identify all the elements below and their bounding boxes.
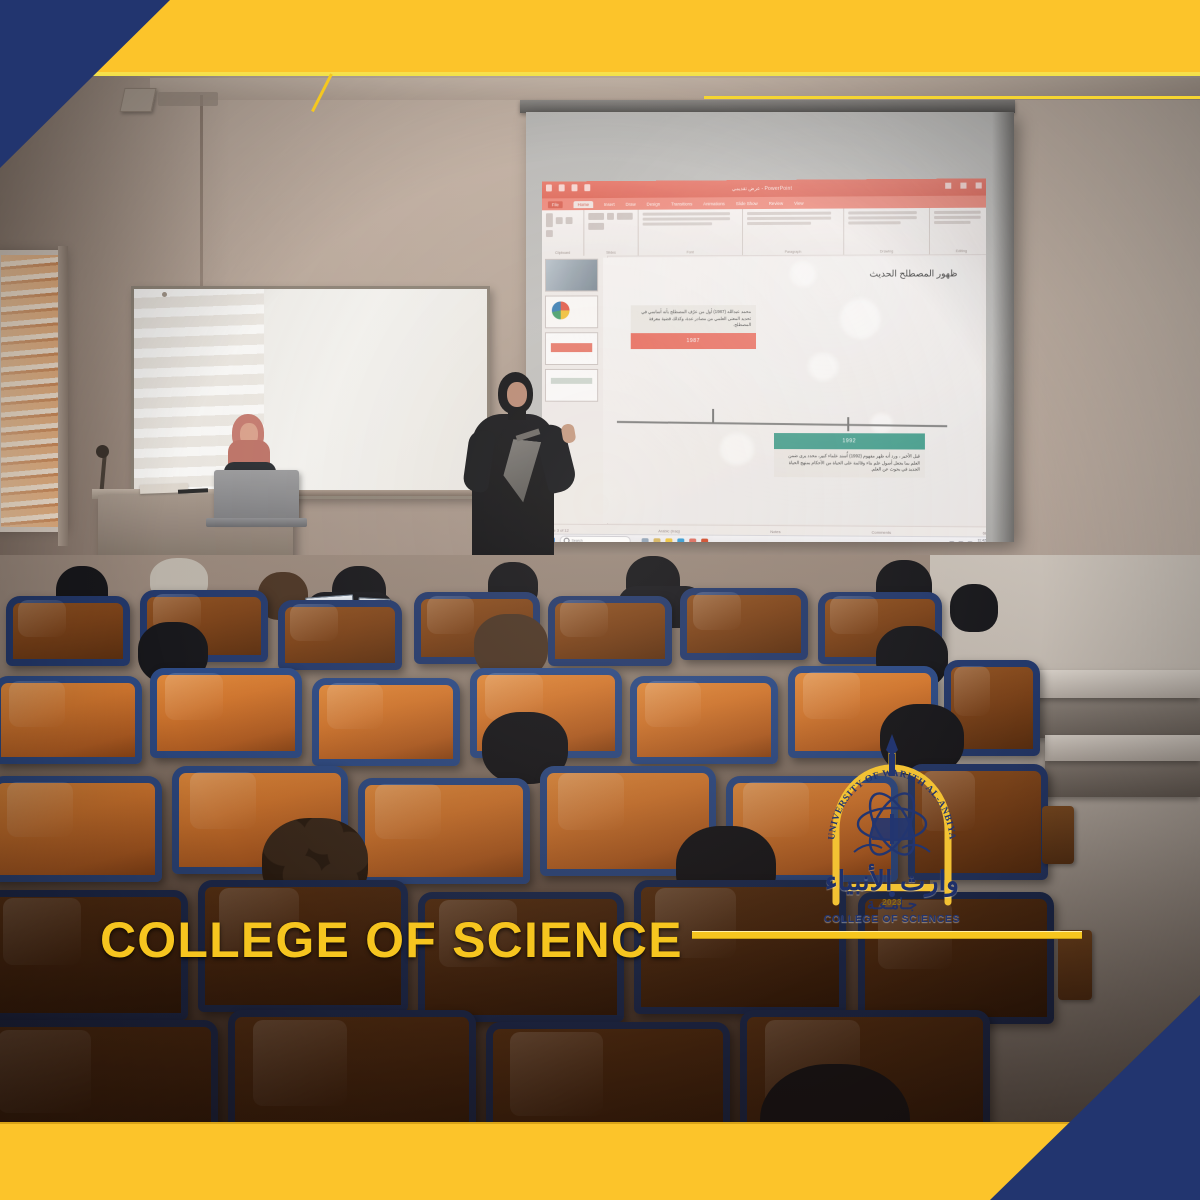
list-row[interactable] bbox=[747, 212, 831, 215]
zoom-level[interactable]: 68% bbox=[983, 530, 986, 535]
arrange-row[interactable] bbox=[848, 221, 900, 224]
shape-styles-row[interactable] bbox=[848, 216, 917, 219]
ribbon-group-slides[interactable]: Slides bbox=[584, 210, 638, 256]
wifi-icon[interactable] bbox=[949, 541, 954, 542]
seat bbox=[0, 676, 142, 764]
poster-canvas: عرض تقديمي - PowerPoint File Home Insert… bbox=[0, 0, 1200, 1200]
tab-draw[interactable]: Draw bbox=[626, 201, 636, 206]
finial-icon bbox=[886, 734, 898, 756]
logo-arabic-main: وارث الأنبياء bbox=[812, 866, 972, 897]
presenter-face bbox=[507, 382, 527, 407]
tab-review[interactable]: Review bbox=[769, 200, 783, 205]
light-bokeh bbox=[840, 299, 880, 339]
university-logo: UNIVERSITY OF WARITH AL-ANBIYA وارث الأن… bbox=[812, 726, 972, 931]
logo-english-caption: COLLEGE OF SCIENCES bbox=[812, 913, 972, 925]
seat bbox=[150, 668, 302, 758]
slide-thumbnail[interactable] bbox=[545, 259, 598, 292]
timeline-card-1987: محمد عبدالله (1987) أول من عرّف المصطلح … bbox=[631, 305, 756, 349]
tab-home[interactable]: Home bbox=[574, 201, 593, 208]
reset-icon[interactable] bbox=[617, 213, 633, 220]
logo-year: 2023 bbox=[812, 898, 972, 907]
seat bbox=[312, 678, 460, 766]
quick-access-toolbar[interactable] bbox=[546, 184, 590, 191]
edge-icon[interactable] bbox=[677, 538, 684, 542]
window-controls[interactable] bbox=[945, 182, 982, 188]
font-name-box[interactable] bbox=[643, 212, 730, 216]
ribbon-group-label: Drawing bbox=[848, 249, 925, 254]
shapes-row[interactable] bbox=[848, 211, 917, 214]
layout-icon[interactable] bbox=[607, 213, 614, 220]
timeline-tick bbox=[847, 417, 849, 431]
stair-riser bbox=[1045, 761, 1200, 797]
ribbon-group-paragraph[interactable]: Paragraph bbox=[743, 209, 844, 256]
font-style-row[interactable] bbox=[643, 217, 730, 220]
seat bbox=[680, 588, 808, 660]
tab-design[interactable]: Design bbox=[647, 201, 661, 206]
replace-row[interactable] bbox=[934, 216, 981, 219]
top-right-hairline bbox=[704, 96, 1200, 99]
timeline-card-text: محمد عبدالله (1987) أول من عرّف المصطلح … bbox=[631, 305, 756, 333]
tab-transitions[interactable]: Transitions bbox=[671, 201, 692, 206]
stair-tread bbox=[1045, 735, 1200, 761]
maximize-icon[interactable] bbox=[960, 183, 966, 189]
screen-shadow-edge bbox=[992, 112, 1014, 542]
select-row[interactable] bbox=[934, 221, 971, 224]
tab-slide-show[interactable]: Slide Show bbox=[736, 201, 758, 206]
audience-member bbox=[950, 584, 998, 632]
whiteboard-magnet bbox=[162, 292, 167, 297]
folder-icon[interactable] bbox=[665, 538, 672, 542]
light-bokeh bbox=[720, 433, 754, 465]
top-band-hairline bbox=[0, 72, 1200, 74]
notes-button[interactable]: Notes bbox=[770, 529, 780, 534]
powerpoint-title-text: عرض تقديمي - PowerPoint bbox=[732, 185, 792, 191]
projector-screen: عرض تقديمي - PowerPoint File Home Insert… bbox=[526, 112, 1014, 542]
whiteboard bbox=[131, 286, 490, 499]
search-input[interactable]: Search bbox=[560, 536, 631, 542]
light-bokeh bbox=[808, 353, 838, 381]
ceiling-patch bbox=[158, 92, 218, 106]
seat bbox=[358, 778, 530, 884]
align-row[interactable] bbox=[747, 222, 811, 225]
podium-laptop-base bbox=[206, 518, 307, 527]
top-yellow-band bbox=[0, 0, 1200, 76]
tab-view[interactable]: View bbox=[794, 200, 803, 205]
ribbon-group-label: Paragraph bbox=[747, 250, 839, 255]
slide-thumbnail[interactable] bbox=[545, 332, 598, 365]
slide-canvas[interactable]: ظهور المصطلح الحديث محمد عبدالله (1987) … bbox=[603, 256, 982, 525]
timeline-card-year: 1987 bbox=[631, 333, 756, 349]
presenter-neck bbox=[508, 408, 526, 420]
seat bbox=[548, 596, 672, 666]
ceiling-vent bbox=[119, 88, 156, 112]
file-explorer-icon[interactable] bbox=[654, 538, 661, 542]
book-icon bbox=[872, 814, 912, 844]
timeline-card-text: قبل الأخير ، ورد أنه ظهر مفهوم (1992) أُ… bbox=[774, 449, 925, 478]
search-placeholder: Search bbox=[572, 539, 583, 542]
volume-icon[interactable] bbox=[958, 541, 963, 542]
taskbar-apps[interactable] bbox=[642, 538, 709, 542]
timeline-card-1992: 1992 قبل الأخير ، ورد أنه ظهر مفهوم (199… bbox=[774, 433, 925, 478]
battery-icon[interactable] bbox=[967, 541, 972, 542]
undo-icon[interactable] bbox=[559, 184, 565, 191]
chrome-icon[interactable] bbox=[689, 538, 696, 542]
powerpoint-icon[interactable] bbox=[701, 538, 708, 542]
cut-icon[interactable] bbox=[556, 217, 563, 224]
powerpoint-window: عرض تقديمي - PowerPoint File Home Insert… bbox=[542, 178, 986, 542]
format-painter-icon[interactable] bbox=[546, 230, 553, 237]
find-row[interactable] bbox=[934, 211, 981, 214]
seat-armrest bbox=[1042, 806, 1074, 864]
seat bbox=[0, 776, 162, 882]
timeline-tick bbox=[712, 409, 713, 423]
title-rule bbox=[692, 931, 1082, 939]
seat bbox=[6, 596, 130, 666]
ribbon-group-label: Editing bbox=[934, 249, 986, 254]
podium-laptop-lid bbox=[214, 470, 299, 520]
ribbon[interactable]: Clipboard Slides Font Paragraph bbox=[542, 208, 986, 257]
timeline-card-year: 1992 bbox=[774, 433, 925, 450]
language-indicator[interactable]: Arabic (Iraq) bbox=[658, 528, 680, 533]
search-icon bbox=[564, 538, 570, 542]
present-icon[interactable] bbox=[584, 184, 590, 191]
seat-armrest bbox=[1058, 930, 1092, 1000]
task-view-icon[interactable] bbox=[642, 538, 649, 542]
light-bokeh bbox=[790, 261, 816, 287]
ribbon-group-clipboard[interactable]: Clipboard bbox=[542, 210, 584, 256]
tab-animations[interactable]: Animations bbox=[703, 201, 725, 206]
microphone-head bbox=[96, 445, 109, 458]
ribbon-group-editing[interactable]: Editing bbox=[930, 208, 986, 255]
comments-button[interactable]: Comments bbox=[872, 529, 892, 534]
paste-icon[interactable] bbox=[546, 213, 553, 227]
event-photograph: عرض تقديمي - PowerPoint File Home Insert… bbox=[0, 0, 1200, 1200]
tab-file[interactable]: File bbox=[548, 201, 563, 208]
seat bbox=[630, 676, 778, 764]
font-effects-row[interactable] bbox=[643, 222, 712, 225]
window-frame bbox=[58, 246, 68, 546]
save-icon[interactable] bbox=[546, 184, 552, 191]
indent-row[interactable] bbox=[747, 217, 831, 220]
page-title: COLLEGE OF SCIENCE bbox=[100, 911, 683, 969]
window-glow bbox=[1, 255, 63, 527]
slide-thumbnail[interactable] bbox=[545, 369, 598, 402]
ribbon-group-drawing[interactable]: Drawing bbox=[844, 208, 930, 255]
ribbon-group-label: Font bbox=[643, 250, 738, 255]
redo-icon[interactable] bbox=[572, 184, 578, 191]
tab-insert[interactable]: Insert bbox=[604, 201, 615, 206]
seat bbox=[278, 600, 402, 670]
ribbon-group-font[interactable]: Font bbox=[639, 209, 743, 255]
close-icon[interactable] bbox=[976, 182, 982, 188]
new-slide-icon[interactable] bbox=[588, 213, 604, 220]
slide-title: ظهور المصطلح الحديث bbox=[870, 268, 958, 279]
system-tray[interactable]: 11:42 AM 5/14/2024 bbox=[949, 540, 986, 542]
minimize-icon[interactable] bbox=[945, 183, 951, 189]
slide-thumbnail[interactable] bbox=[545, 295, 598, 328]
timeline-axis bbox=[617, 421, 947, 427]
section-icon[interactable] bbox=[588, 223, 604, 230]
copy-icon[interactable] bbox=[566, 217, 573, 224]
